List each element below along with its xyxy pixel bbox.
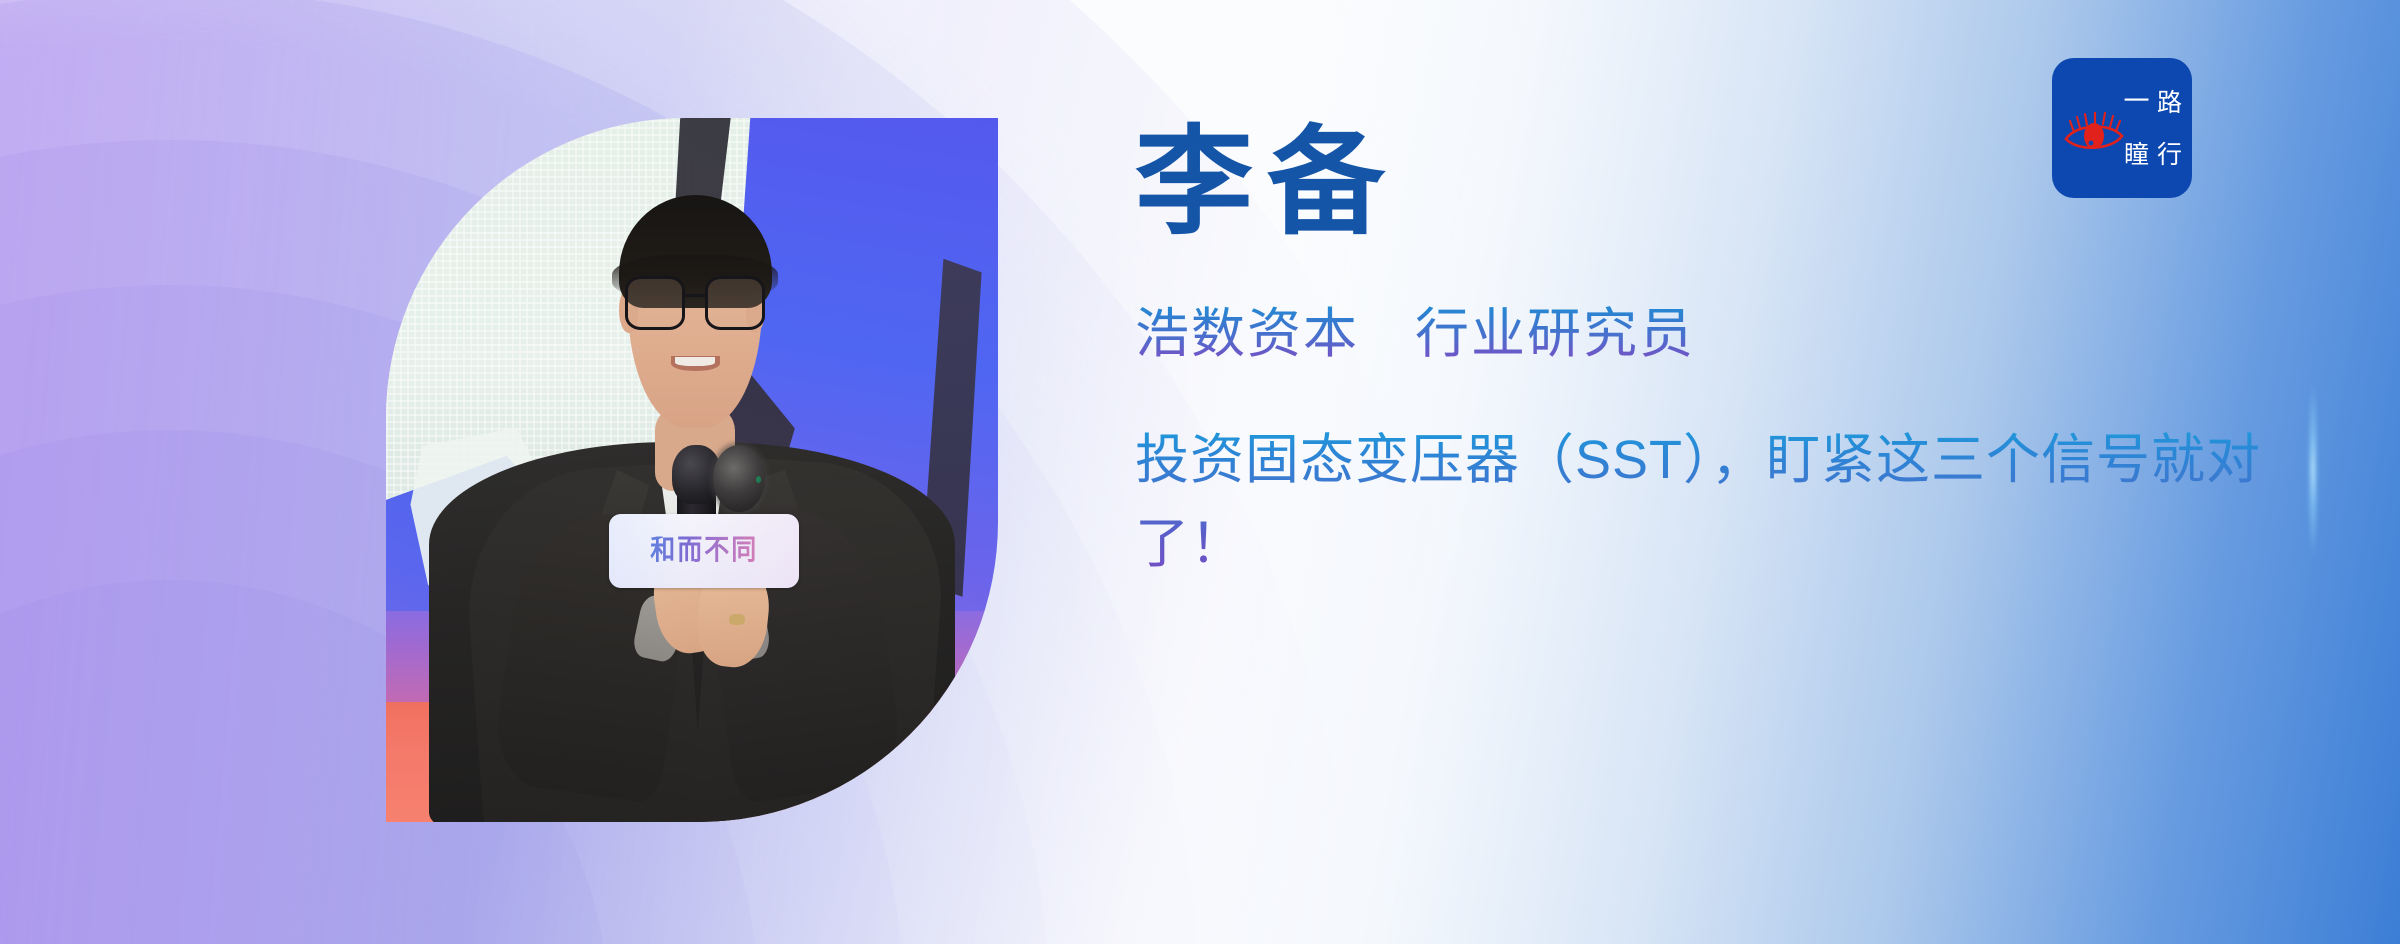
mic-flag-text: 和而不同 xyxy=(650,537,758,565)
logo-char-2: 路 xyxy=(2157,90,2182,115)
speaker-card: 和而不同 李备 浩数资本 行业研究员 投资固态变压器（SST），盯紧这三个信号就… xyxy=(0,0,2400,944)
logo-char-1: 一 xyxy=(2123,89,2149,115)
brand-logo-text: 一 路 瞳 行 xyxy=(2120,76,2186,180)
eye-icon xyxy=(2064,112,2126,154)
brand-logo[interactable]: 一 路 瞳 行 xyxy=(2052,58,2192,198)
logo-char-3: 瞳 xyxy=(2124,142,2149,167)
speaker-topic: 投资固态变压器（SST），盯紧这三个信号就对了！ xyxy=(1135,419,2320,586)
speaker-figure: 和而不同 xyxy=(386,118,998,822)
mic-flag: 和而不同 xyxy=(609,514,799,588)
glasses-icon xyxy=(625,276,766,330)
speaker-affiliation-role: 浩数资本 行业研究员 xyxy=(1135,301,2320,369)
logo-char-4: 行 xyxy=(2157,142,2182,167)
speaker-photo: 和而不同 xyxy=(386,118,998,822)
